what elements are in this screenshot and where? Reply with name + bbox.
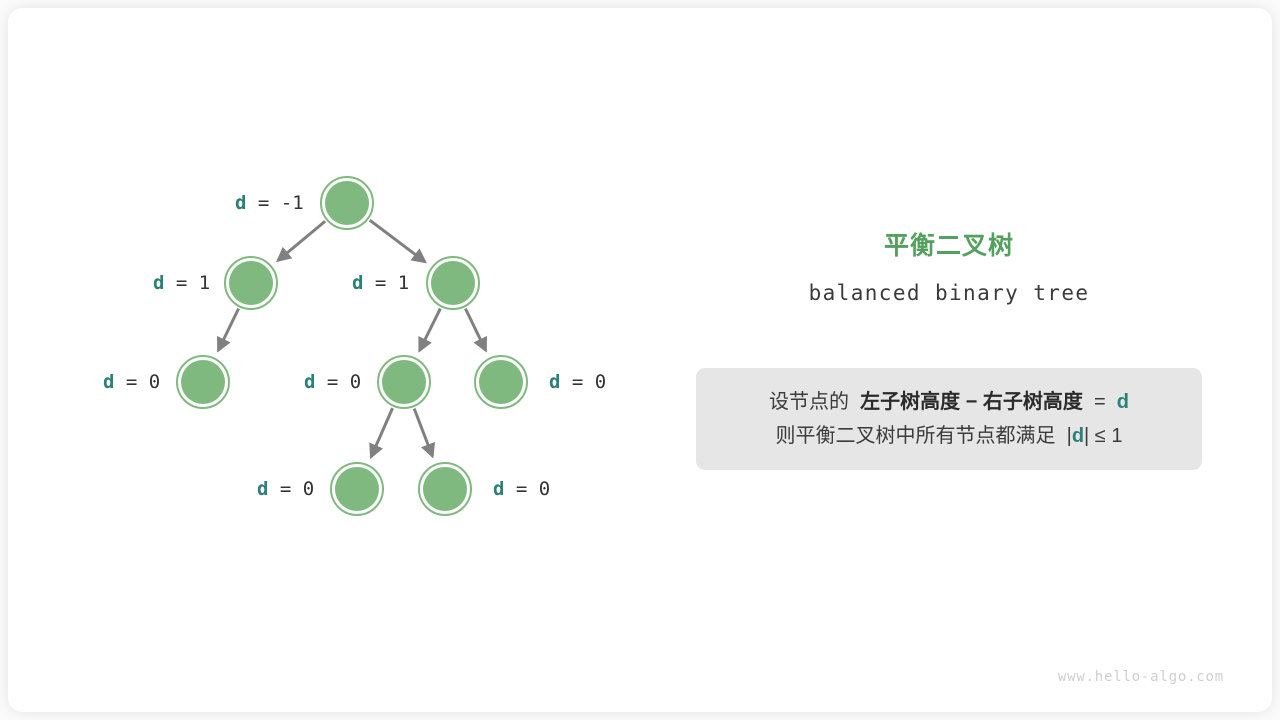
note-line-2-d: d	[1072, 425, 1084, 447]
tree-node-label: d = 0	[304, 371, 361, 393]
tree-node-label-d: d	[153, 272, 164, 294]
tree-node-label-d: d	[493, 478, 504, 500]
tree-edge	[420, 309, 441, 351]
tree-node-core	[229, 261, 273, 305]
tree-node-label-d: d	[352, 272, 363, 294]
tree-edge	[371, 408, 392, 457]
tree-node	[225, 257, 277, 309]
note-line-1-d: d	[1117, 391, 1129, 413]
tree-edge	[414, 409, 432, 457]
tree-node-label-d: d	[549, 371, 560, 393]
tree-node-label: d = 0	[549, 371, 606, 393]
tree-node-label-value: = 0	[114, 371, 160, 393]
diagram-stage: d = -1d = 1d = 1d = 0d = 0d = 0d = 0d = …	[0, 0, 1280, 720]
tree-node	[177, 356, 229, 408]
tree-node-label-d: d	[257, 478, 268, 500]
tree-node-label-value: = -1	[246, 192, 303, 214]
tree-node-label: d = 0	[257, 478, 314, 500]
note-line-2-prefix: 则平衡二叉树中所有节点都满足 |	[776, 425, 1072, 447]
note-line-1-prefix: 设节点的	[769, 391, 860, 413]
info-panel: 平衡二叉树 balanced binary tree	[696, 226, 1202, 305]
note-line-1: 设节点的 左子树高度 − 右子树高度 = d	[769, 385, 1129, 419]
tree-edge	[465, 309, 485, 351]
tree-node-core	[423, 467, 467, 511]
tree-edge	[278, 221, 325, 260]
tree-node-label-value: = 1	[363, 272, 409, 294]
page-title: 平衡二叉树	[696, 226, 1202, 262]
tree-edges	[218, 220, 485, 457]
tree-node-label-d: d	[304, 371, 315, 393]
tree-node-core	[181, 360, 225, 404]
tree-node-label-value: = 0	[560, 371, 606, 393]
tree-edge	[218, 309, 238, 351]
site-watermark: www.hello-algo.com	[1058, 669, 1224, 685]
tree-node-label-value: = 0	[268, 478, 314, 500]
page-subtitle: balanced binary tree	[696, 281, 1202, 305]
tree-node-core	[479, 360, 523, 404]
tree-node-core	[382, 360, 426, 404]
note-line-2: 则平衡二叉树中所有节点都满足 |d| ≤ 1	[776, 419, 1123, 453]
tree-node	[321, 177, 373, 229]
tree-node-label: d = -1	[235, 192, 304, 214]
tree-node-label-value: = 1	[164, 272, 210, 294]
note-line-2-suffix: | ≤ 1	[1084, 425, 1122, 447]
binary-tree-graphic: d = -1d = 1d = 1d = 0d = 0d = 0d = 0d = …	[0, 0, 1280, 720]
tree-node-label: d = 0	[103, 371, 160, 393]
tree-node	[378, 356, 430, 408]
tree-node-label: d = 1	[153, 272, 210, 294]
tree-node-label-value: = 0	[504, 478, 550, 500]
note-line-1-formula: 左子树高度 − 右子树高度	[860, 391, 1083, 413]
tree-edge	[370, 220, 425, 262]
tree-node-label-value: = 0	[315, 371, 361, 393]
tree-node	[331, 463, 383, 515]
tree-nodes	[177, 177, 527, 515]
tree-node	[475, 356, 527, 408]
tree-node-label: d = 0	[493, 478, 550, 500]
tree-node-label-d: d	[103, 371, 114, 393]
tree-node-label-d: d	[235, 192, 246, 214]
tree-node	[427, 257, 479, 309]
definition-note-box: 设节点的 左子树高度 − 右子树高度 = d 则平衡二叉树中所有节点都满足 |d…	[696, 368, 1202, 470]
note-line-1-equals: =	[1083, 391, 1117, 413]
tree-node-label: d = 1	[352, 272, 409, 294]
tree-node-core	[325, 181, 369, 225]
tree-node	[419, 463, 471, 515]
tree-node-labels: d = -1d = 1d = 1d = 0d = 0d = 0d = 0d = …	[103, 192, 606, 500]
tree-node-core	[431, 261, 475, 305]
tree-node-core	[335, 467, 379, 511]
